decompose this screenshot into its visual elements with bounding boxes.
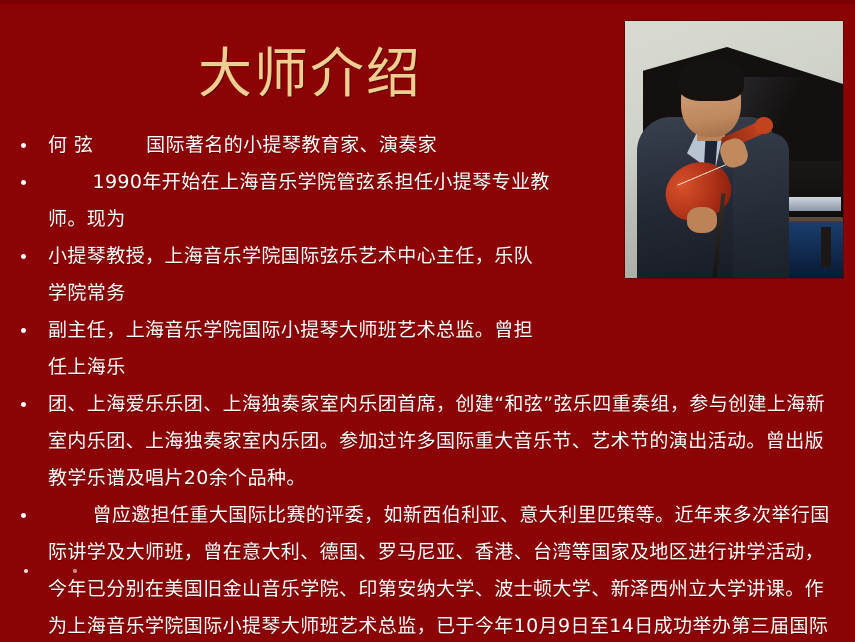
paragraph-text: 1990年开始在上海音乐学院管弦系担任小提琴专业教师。现为 — [48, 171, 550, 230]
bullet-icon — [21, 180, 26, 185]
bullet-icon — [21, 143, 26, 148]
top-edge-band — [0, 0, 855, 4]
bullet-icon — [21, 513, 26, 518]
bullet-icon — [73, 569, 77, 573]
paragraph-name-and-role: 何 弦 国际著名的小提琴教育家、演奏家 — [0, 127, 560, 164]
paragraph-titles-2: 副主任，上海音乐学院国际小提琴大师班艺术总监。曾担任上海乐 — [0, 312, 560, 386]
subject-hair-shape — [678, 59, 744, 101]
bullet-icon — [21, 402, 26, 407]
paragraph-ensembles: 团、上海爱乐乐团、上海独奏家室内乐团首席，创建“和弦”弦乐四重奏组，参与创建上海… — [0, 386, 855, 497]
paragraph-career-start: 1990年开始在上海音乐学院管弦系担任小提琴专业教师。现为 — [0, 164, 560, 238]
paragraph-titles-1: 小提琴教授，上海音乐学院国际弦乐艺术中心主任，乐队学院常务 — [0, 238, 560, 312]
bullet-icon — [21, 254, 26, 259]
bullet-icon — [21, 328, 26, 333]
page-title: 大师介绍 — [0, 44, 620, 104]
paragraph-text: 副主任，上海音乐学院国际小提琴大师班艺术总监。曾担任上海乐 — [48, 319, 533, 378]
slide-canvas: 大师介绍 — [0, 0, 855, 642]
bullet-icon — [24, 569, 28, 573]
paragraph-text: 团、上海爱乐乐团、上海独奏家室内乐团首席，创建“和弦”弦乐四重奏组，参与创建上海… — [48, 393, 825, 489]
trailing-bullet-marks — [0, 565, 855, 577]
master-name: 何 弦 — [48, 134, 93, 156]
master-role: 国际著名的小提琴教育家、演奏家 — [146, 134, 437, 156]
paragraph-text: 小提琴教授，上海音乐学院国际弦乐艺术中心主任，乐队学院常务 — [48, 245, 533, 304]
